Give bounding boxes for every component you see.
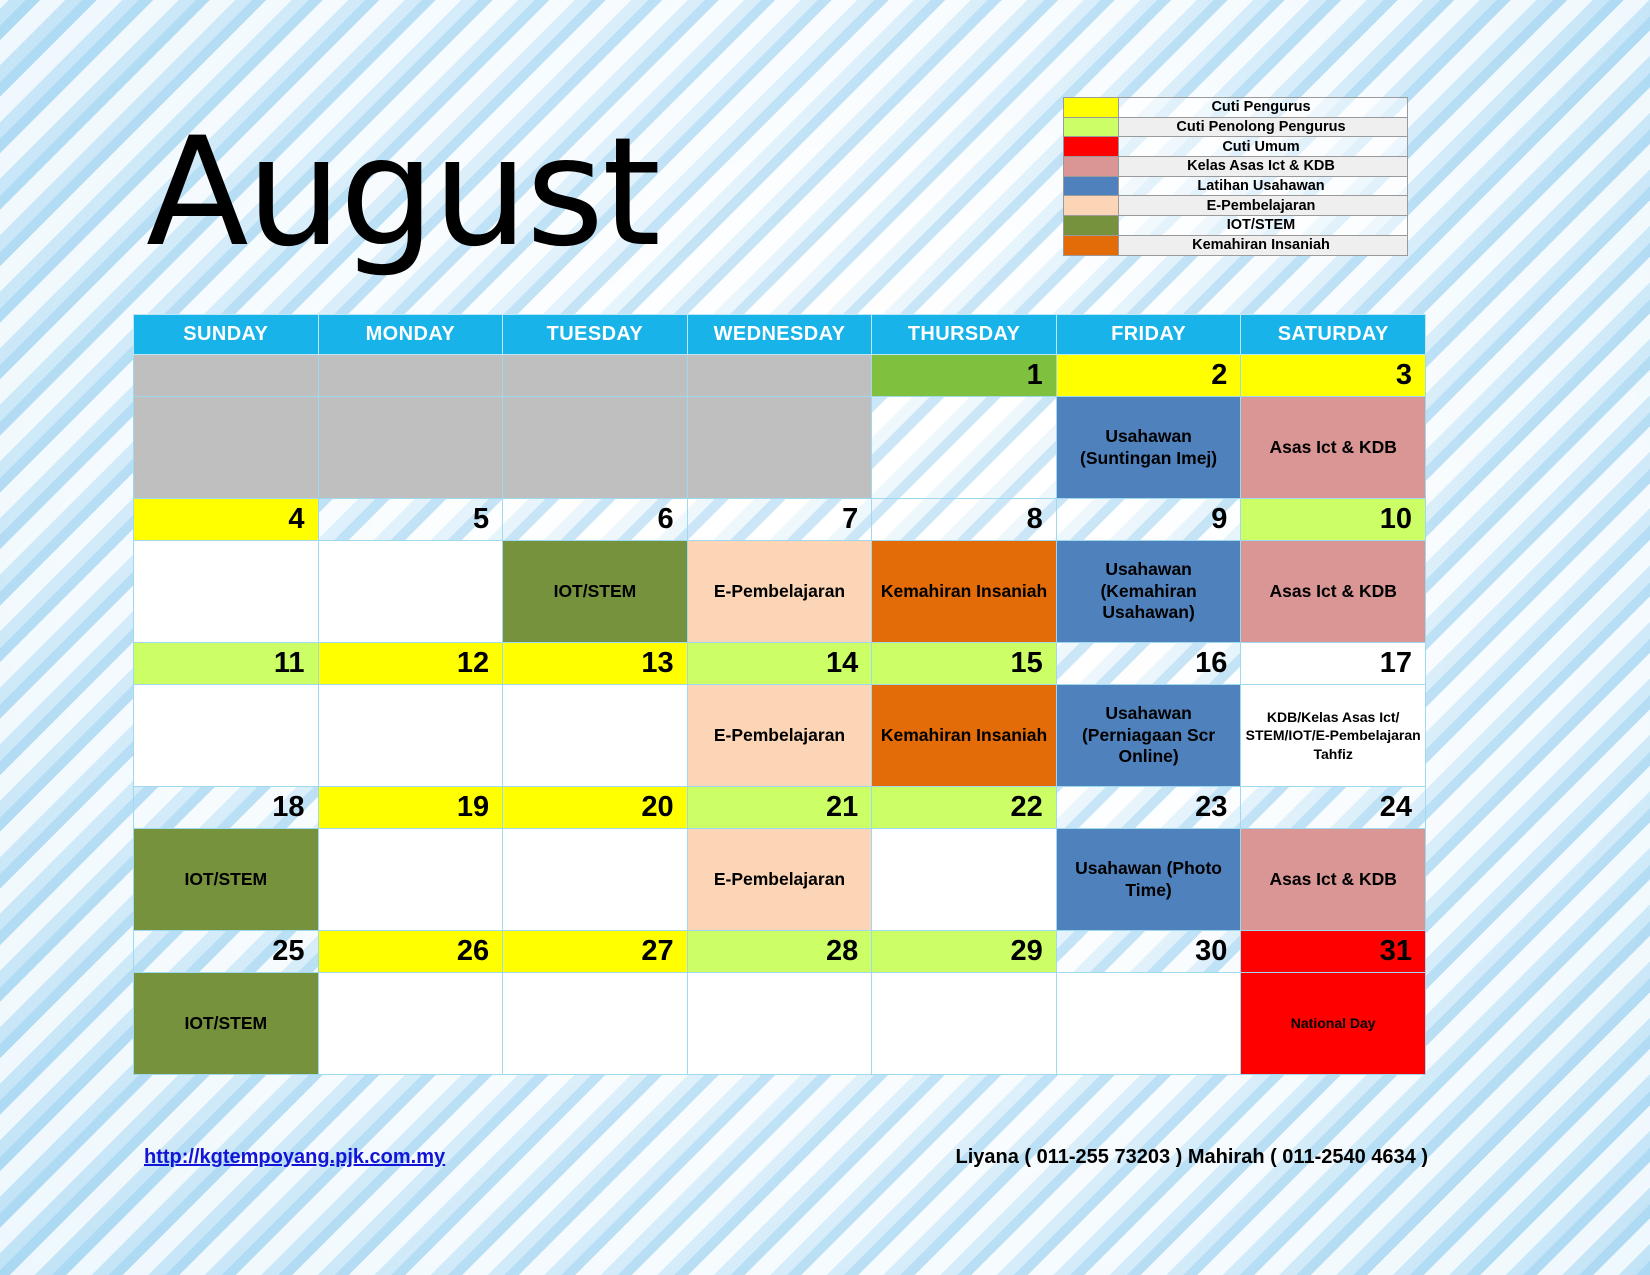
- event-empty: [688, 397, 872, 498]
- event-cell-24[interactable]: Asas Ict & KDB: [1241, 829, 1426, 931]
- event-cell-17[interactable]: KDB/Kelas Asas Ict/ STEM/IOT/E-Pembelaja…: [1241, 685, 1426, 787]
- day-cell-20[interactable]: 20: [503, 787, 688, 829]
- weekday-header-tuesday: TUESDAY: [503, 315, 688, 355]
- day-number: 17: [1241, 643, 1425, 684]
- day-cell-26[interactable]: 26: [318, 931, 503, 973]
- event-cell-28: [687, 973, 872, 1075]
- day-cell-8[interactable]: 8: [872, 499, 1057, 541]
- event-cell-15[interactable]: Kemahiran Insaniah: [872, 685, 1057, 787]
- event-empty: [1057, 973, 1241, 1074]
- event-label: IOT/STEM: [134, 973, 318, 1074]
- week-number-row: 123: [134, 355, 1426, 397]
- week-event-row: E-PembelajaranKemahiran InsaniahUsahawan…: [134, 685, 1426, 787]
- day-cell-24[interactable]: 24: [1241, 787, 1426, 829]
- day-number: 15: [872, 643, 1056, 684]
- day-cell-blank: [134, 355, 319, 397]
- event-cell-6[interactable]: IOT/STEM: [503, 541, 688, 643]
- day-number: 31: [1241, 931, 1425, 972]
- event-empty: [319, 829, 503, 930]
- day-number: 8: [872, 499, 1056, 540]
- event-cell-2[interactable]: Usahawan (Suntingan Imej): [1056, 397, 1241, 499]
- day-number: 16: [1057, 643, 1241, 684]
- day-number: 9: [1057, 499, 1241, 540]
- legend-row: Kelas Asas Ict & KDB: [1064, 157, 1407, 177]
- day-cell-19[interactable]: 19: [318, 787, 503, 829]
- event-label: Usahawan (Suntingan Imej): [1057, 397, 1241, 498]
- event-cell-16[interactable]: Usahawan (Perniagaan Scr Online): [1056, 685, 1241, 787]
- legend-row: Latihan Usahawan: [1064, 177, 1407, 197]
- day-cell-25[interactable]: 25: [134, 931, 319, 973]
- day-number: 7: [688, 499, 872, 540]
- day-cell-28[interactable]: 28: [687, 931, 872, 973]
- day-number: 11: [134, 643, 318, 684]
- event-label: National Day: [1241, 973, 1425, 1074]
- legend-label: Cuti Penolong Pengurus: [1119, 118, 1407, 137]
- event-label: IOT/STEM: [503, 541, 687, 642]
- day-cell-4[interactable]: 4: [134, 499, 319, 541]
- day-cell-27[interactable]: 27: [503, 931, 688, 973]
- weekday-header-thursday: THURSDAY: [872, 315, 1057, 355]
- day-number: 28: [688, 931, 872, 972]
- event-empty: [134, 685, 318, 786]
- event-empty: [319, 973, 503, 1074]
- day-number: 12: [319, 643, 503, 684]
- event-label: Asas Ict & KDB: [1241, 397, 1425, 498]
- event-cell-9[interactable]: Usahawan (Kemahiran Usahawan): [1056, 541, 1241, 643]
- day-number: 13: [503, 643, 687, 684]
- day-number: 24: [1241, 787, 1425, 828]
- day-number: 19: [319, 787, 503, 828]
- weekday-header-wednesday: WEDNESDAY: [687, 315, 872, 355]
- legend-row: Cuti Umum: [1064, 137, 1407, 157]
- event-cell-4: [134, 541, 319, 643]
- day-cell-3[interactable]: 3: [1241, 355, 1426, 397]
- event-cell-blank: [687, 397, 872, 499]
- legend-swatch: [1064, 118, 1119, 137]
- event-cell-25[interactable]: IOT/STEM: [134, 973, 319, 1075]
- day-cell-6[interactable]: 6: [503, 499, 688, 541]
- event-empty: [503, 973, 687, 1074]
- event-empty: [872, 829, 1056, 930]
- day-number: 5: [319, 499, 503, 540]
- calendar-body: 123Usahawan (Suntingan Imej)Asas Ict & K…: [134, 355, 1426, 1075]
- event-cell-22: [872, 829, 1057, 931]
- day-number: 26: [319, 931, 503, 972]
- event-empty: [319, 541, 503, 642]
- day-cell-29[interactable]: 29: [872, 931, 1057, 973]
- day-cell-23[interactable]: 23: [1056, 787, 1241, 829]
- week-number-row: 11121314151617: [134, 643, 1426, 685]
- event-label: Asas Ict & KDB: [1241, 829, 1425, 930]
- calendar-table: SUNDAYMONDAYTUESDAYWEDNESDAYTHURSDAYFRID…: [133, 314, 1426, 1075]
- event-cell-12: [318, 685, 503, 787]
- legend-label: Cuti Umum: [1119, 137, 1407, 156]
- event-cell-19: [318, 829, 503, 931]
- legend-swatch: [1064, 236, 1119, 255]
- legend-swatch: [1064, 137, 1119, 156]
- legend-label: E-Pembelajaran: [1119, 196, 1407, 215]
- week-event-row: Usahawan (Suntingan Imej)Asas Ict & KDB: [134, 397, 1426, 499]
- event-cell-14[interactable]: E-Pembelajaran: [687, 685, 872, 787]
- event-cell-3[interactable]: Asas Ict & KDB: [1241, 397, 1426, 499]
- day-number: 20: [503, 787, 687, 828]
- event-label: Kemahiran Insaniah: [872, 541, 1056, 642]
- day-number: 2: [1057, 355, 1241, 396]
- day-cell-18[interactable]: 18: [134, 787, 319, 829]
- calendar-page: August Cuti PengurusCuti Penolong Pengur…: [0, 0, 1650, 1275]
- day-cell-11[interactable]: 11: [134, 643, 319, 685]
- day-cell-15[interactable]: 15: [872, 643, 1057, 685]
- event-empty: [503, 685, 687, 786]
- event-label: Kemahiran Insaniah: [872, 685, 1056, 786]
- day-number: 27: [503, 931, 687, 972]
- legend-row: E-Pembelajaran: [1064, 196, 1407, 216]
- week-number-row: 25262728293031: [134, 931, 1426, 973]
- event-cell-7[interactable]: E-Pembelajaran: [687, 541, 872, 643]
- legend: Cuti PengurusCuti Penolong PengurusCuti …: [1063, 97, 1408, 256]
- day-cell-31[interactable]: 31: [1241, 931, 1426, 973]
- event-cell-27: [503, 973, 688, 1075]
- weekday-header-friday: FRIDAY: [1056, 315, 1241, 355]
- event-empty: [319, 397, 503, 498]
- legend-swatch: [1064, 177, 1119, 196]
- day-number: 14: [688, 643, 872, 684]
- event-cell-10[interactable]: Asas Ict & KDB: [1241, 541, 1426, 643]
- day-number: 30: [1057, 931, 1241, 972]
- day-number: 6: [503, 499, 687, 540]
- day-cell-30[interactable]: 30: [1056, 931, 1241, 973]
- day-number: [503, 355, 687, 396]
- legend-label: Kemahiran Insaniah: [1119, 236, 1407, 255]
- event-cell-blank: [134, 397, 319, 499]
- event-cell-29: [872, 973, 1057, 1075]
- event-cell-21[interactable]: E-Pembelajaran: [687, 829, 872, 931]
- day-number: 10: [1241, 499, 1425, 540]
- day-cell-5[interactable]: 5: [318, 499, 503, 541]
- day-cell-2[interactable]: 2: [1056, 355, 1241, 397]
- day-number: [134, 355, 318, 396]
- event-cell-1: [872, 397, 1057, 499]
- event-cell-5: [318, 541, 503, 643]
- day-cell-21[interactable]: 21: [687, 787, 872, 829]
- event-empty: [872, 973, 1056, 1074]
- event-label: Usahawan (Perniagaan Scr Online): [1057, 685, 1241, 786]
- day-cell-blank: [318, 355, 503, 397]
- day-cell-17[interactable]: 17: [1241, 643, 1426, 685]
- day-number: 23: [1057, 787, 1241, 828]
- website-link[interactable]: http://kgtempoyang.pjk.com.my: [144, 1146, 445, 1169]
- page-title: August: [146, 118, 659, 268]
- event-label: IOT/STEM: [134, 829, 318, 930]
- event-cell-31[interactable]: National Day: [1241, 973, 1426, 1075]
- day-cell-12[interactable]: 12: [318, 643, 503, 685]
- event-empty: [503, 829, 687, 930]
- week-event-row: IOT/STEMNational Day: [134, 973, 1426, 1075]
- day-number: 25: [134, 931, 318, 972]
- event-cell-26: [318, 973, 503, 1075]
- day-number: [688, 355, 872, 396]
- legend-label: IOT/STEM: [1119, 216, 1407, 235]
- event-cell-blank: [503, 397, 688, 499]
- week-event-row: IOT/STEME-PembelajaranKemahiran Insaniah…: [134, 541, 1426, 643]
- event-cell-18[interactable]: IOT/STEM: [134, 829, 319, 931]
- event-label: Asas Ict & KDB: [1241, 541, 1425, 642]
- legend-swatch: [1064, 196, 1119, 215]
- event-label: Usahawan (Photo Time): [1057, 829, 1241, 930]
- day-number: 21: [688, 787, 872, 828]
- event-cell-11: [134, 685, 319, 787]
- legend-swatch: [1064, 157, 1119, 176]
- event-empty: [134, 541, 318, 642]
- day-number: 22: [872, 787, 1056, 828]
- legend-swatch: [1064, 98, 1119, 117]
- day-cell-22[interactable]: 22: [872, 787, 1057, 829]
- day-cell-blank: [503, 355, 688, 397]
- day-number: 29: [872, 931, 1056, 972]
- legend-label: Latihan Usahawan: [1119, 177, 1407, 196]
- event-empty: [688, 973, 872, 1074]
- weekday-header-row: SUNDAYMONDAYTUESDAYWEDNESDAYTHURSDAYFRID…: [134, 315, 1426, 355]
- event-empty: [134, 397, 318, 498]
- legend-row: Cuti Penolong Pengurus: [1064, 118, 1407, 138]
- event-label: E-Pembelajaran: [688, 829, 872, 930]
- event-empty: [319, 685, 503, 786]
- legend-label: Kelas Asas Ict & KDB: [1119, 157, 1407, 176]
- event-empty: [503, 397, 687, 498]
- event-cell-30: [1056, 973, 1241, 1075]
- legend-row: Cuti Pengurus: [1064, 98, 1407, 118]
- event-label: E-Pembelajaran: [688, 541, 872, 642]
- weekday-header-saturday: SATURDAY: [1241, 315, 1426, 355]
- event-cell-20: [503, 829, 688, 931]
- day-cell-1[interactable]: 1: [872, 355, 1057, 397]
- legend-row: Kemahiran Insaniah: [1064, 236, 1407, 256]
- event-label: KDB/Kelas Asas Ict/ STEM/IOT/E-Pembelaja…: [1241, 685, 1425, 786]
- day-cell-10[interactable]: 10: [1241, 499, 1426, 541]
- event-label: Usahawan (Kemahiran Usahawan): [1057, 541, 1241, 642]
- week-number-row: 18192021222324: [134, 787, 1426, 829]
- day-cell-16[interactable]: 16: [1056, 643, 1241, 685]
- day-number: 4: [134, 499, 318, 540]
- week-number-row: 45678910: [134, 499, 1426, 541]
- event-empty: [872, 397, 1056, 498]
- event-label: E-Pembelajaran: [688, 685, 872, 786]
- day-number: [319, 355, 503, 396]
- event-cell-8[interactable]: Kemahiran Insaniah: [872, 541, 1057, 643]
- contact-info: Liyana ( 011-255 73203 ) Mahirah ( 011-2…: [955, 1146, 1428, 1169]
- calendar-header: SUNDAYMONDAYTUESDAYWEDNESDAYTHURSDAYFRID…: [134, 315, 1426, 355]
- day-number: 3: [1241, 355, 1425, 396]
- event-cell-blank: [318, 397, 503, 499]
- legend-row: IOT/STEM: [1064, 216, 1407, 236]
- day-cell-13[interactable]: 13: [503, 643, 688, 685]
- weekday-header-sunday: SUNDAY: [134, 315, 319, 355]
- day-number: 18: [134, 787, 318, 828]
- week-event-row: IOT/STEME-PembelajaranUsahawan (Photo Ti…: [134, 829, 1426, 931]
- day-cell-7[interactable]: 7: [687, 499, 872, 541]
- event-cell-13: [503, 685, 688, 787]
- day-number: 1: [872, 355, 1056, 396]
- day-cell-14[interactable]: 14: [687, 643, 872, 685]
- event-cell-23[interactable]: Usahawan (Photo Time): [1056, 829, 1241, 931]
- legend-swatch: [1064, 216, 1119, 235]
- weekday-header-monday: MONDAY: [318, 315, 503, 355]
- day-cell-9[interactable]: 9: [1056, 499, 1241, 541]
- legend-label: Cuti Pengurus: [1119, 98, 1407, 117]
- day-cell-blank: [687, 355, 872, 397]
